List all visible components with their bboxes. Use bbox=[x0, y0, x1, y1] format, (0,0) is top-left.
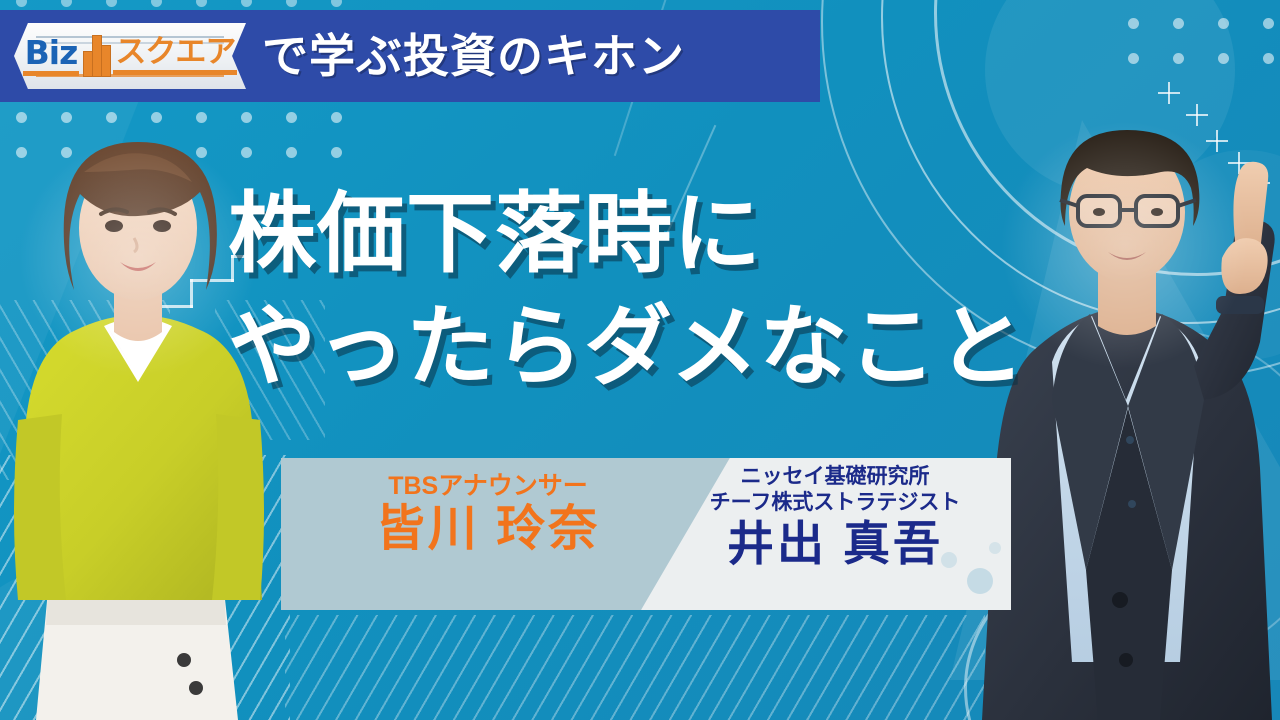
left-person-name: 皆川 玲奈 bbox=[323, 503, 653, 557]
title-line-1: 株価下落時に bbox=[228, 178, 1026, 291]
header-ribbon: Biz スクエア で学ぶ投資のキホン bbox=[0, 10, 820, 102]
bg-hatch-bottom-mid bbox=[285, 615, 985, 720]
right-person-caption: ニッセイ基礎研究所 チーフ株式ストラテジスト 井出 真吾 bbox=[665, 464, 1005, 570]
right-person-name: 井出 真吾 bbox=[665, 518, 1005, 570]
lower-third-name-bar: TBSアナウンサー 皆川 玲奈 ニッセイ基礎研究所 チーフ株式ストラテジスト 井… bbox=[281, 458, 1011, 610]
left-person-role: TBSアナウンサー bbox=[323, 472, 653, 501]
logo-square-text: スクエア bbox=[113, 37, 237, 75]
bg-dot-grid-header bbox=[16, 0, 342, 7]
bubble-decor-1 bbox=[967, 568, 993, 594]
right-person-role: チーフ株式ストラテジスト bbox=[665, 490, 1005, 516]
building-icon bbox=[83, 35, 109, 77]
header-title: で学ぶ投資のキホン bbox=[262, 33, 685, 79]
bg-dot-grid-right bbox=[1128, 18, 1280, 64]
main-title: 株価下落時に やったらダメなこと bbox=[228, 178, 1026, 403]
title-line-2: やったらダメなこと bbox=[228, 291, 1026, 404]
program-logo: Biz スクエア bbox=[14, 23, 246, 89]
left-person-caption: TBSアナウンサー 皆川 玲奈 bbox=[323, 472, 653, 557]
thumbnail-canvas: Biz スクエア で学ぶ投資のキホン 株価下落時に やったらダメなこと TBSア… bbox=[0, 0, 1280, 720]
logo-biz-text: Biz bbox=[23, 36, 80, 76]
right-person-affiliation: ニッセイ基礎研究所 bbox=[665, 464, 1005, 490]
